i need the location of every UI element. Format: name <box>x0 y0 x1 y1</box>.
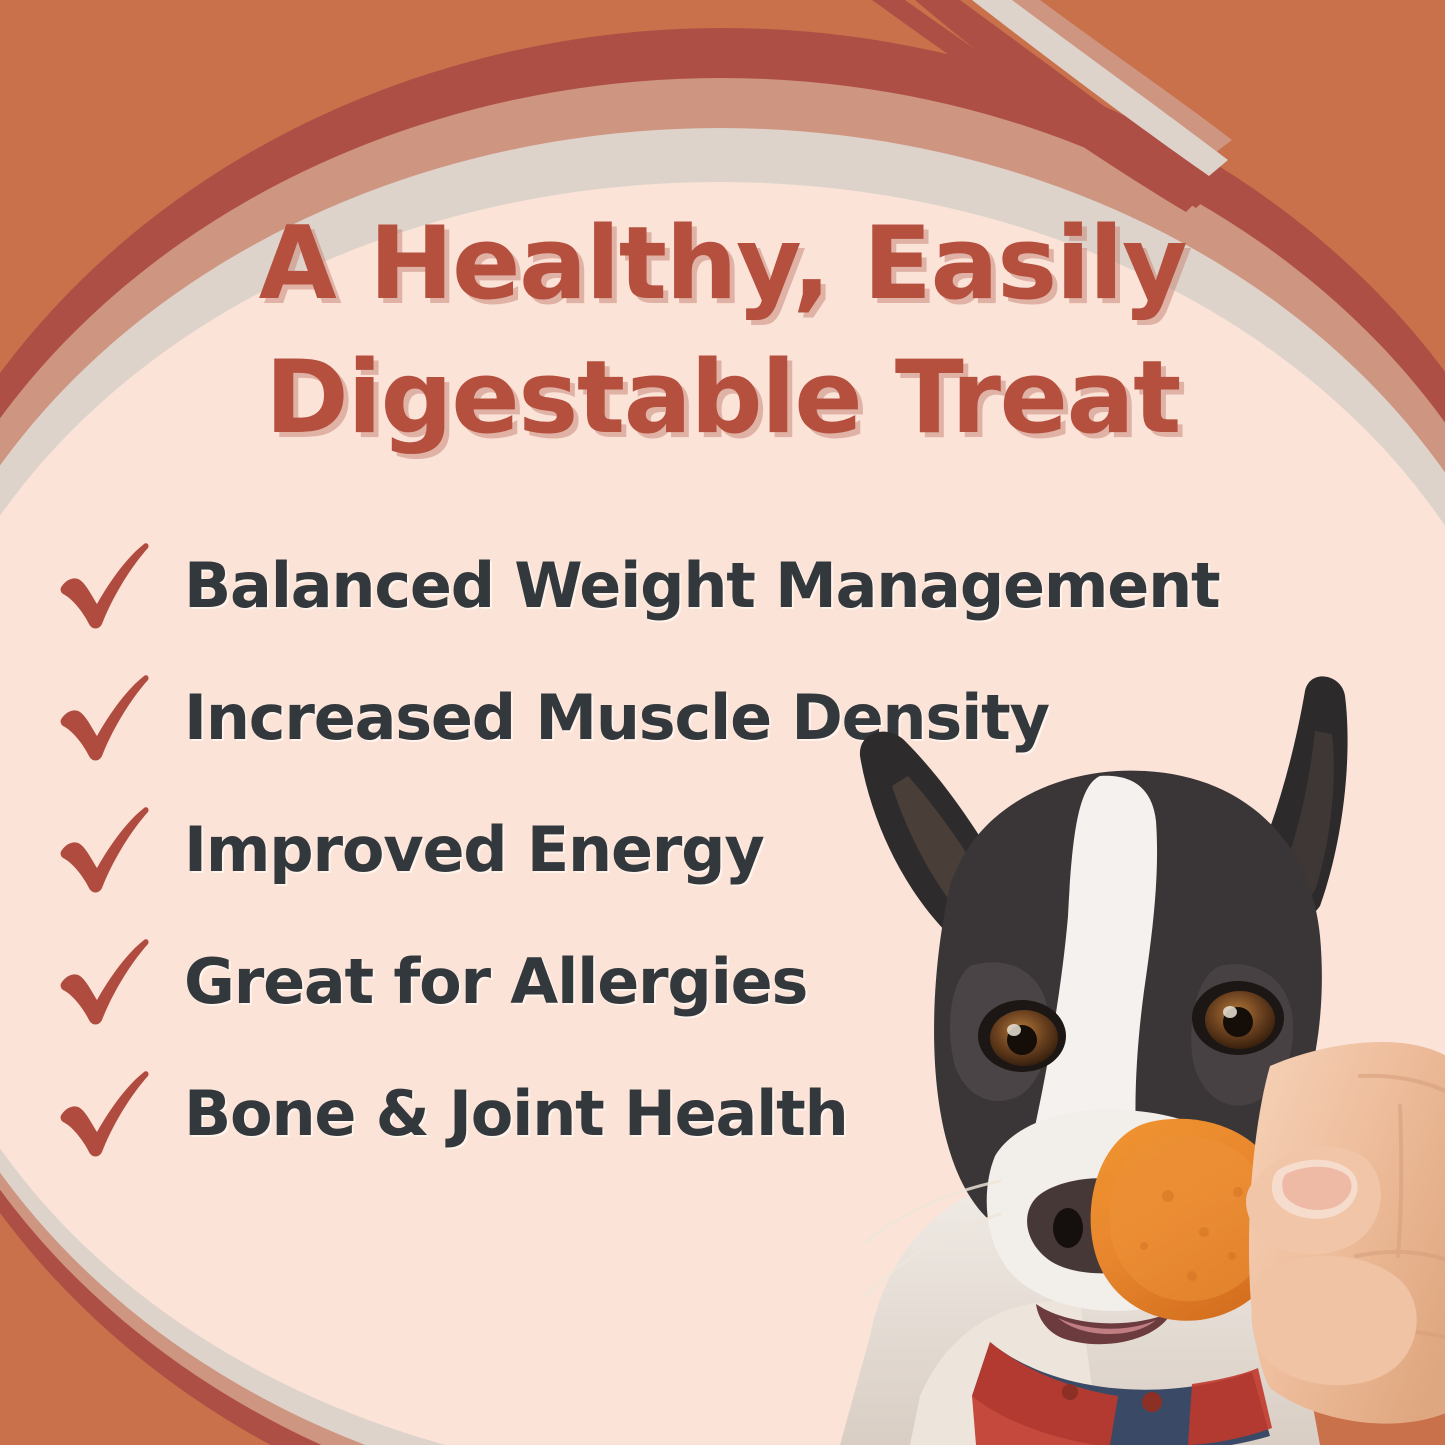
page-title: A Healthy, Easily Digestable Treat <box>0 196 1445 465</box>
list-item: Balanced Weight Management <box>0 520 1445 652</box>
check-mark-icon <box>56 542 152 630</box>
dog-eating-treat-photo <box>800 636 1445 1445</box>
check-mark-icon <box>56 806 152 894</box>
benefit-label: Great for Allergies <box>184 951 807 1013</box>
check-mark-icon <box>56 674 152 762</box>
title-line-1: A Healthy, Easily <box>0 196 1445 330</box>
benefit-label: Bone & Joint Health <box>184 1083 848 1145</box>
poster-root: A Healthy, Easily Digestable Treat Balan… <box>0 0 1445 1445</box>
check-mark-icon <box>56 1070 152 1158</box>
check-mark-icon <box>56 938 152 1026</box>
title-line-2: Digestable Treat <box>0 330 1445 464</box>
benefit-label: Improved Energy <box>184 819 764 881</box>
benefit-label: Balanced Weight Management <box>184 555 1220 617</box>
